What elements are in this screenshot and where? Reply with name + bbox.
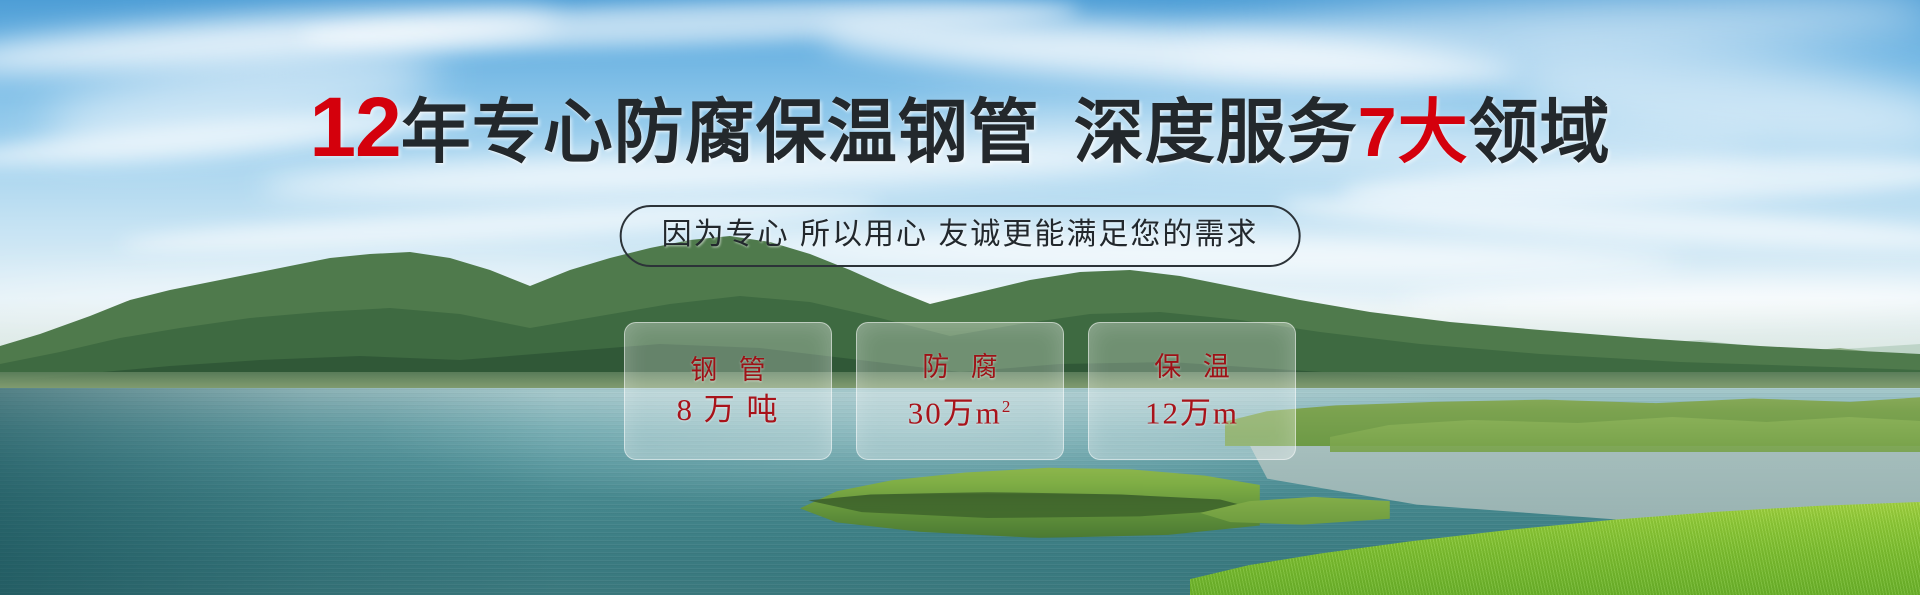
banner-content: 12年专心防腐保温钢管深度服务7大领域 因为专心 所以用心 友诚更能满足您的需求… — [0, 0, 1920, 595]
stat-value-superscript: 2 — [1002, 397, 1013, 416]
headline-part-three: 领域 — [1469, 93, 1611, 171]
stat-card-insulation[interactable]: 保 温 12万m — [1088, 322, 1296, 460]
subtitle-pill: 因为专心 所以用心 友诚更能满足您的需求 — [620, 205, 1301, 267]
subtitle-container: 因为专心 所以用心 友诚更能满足您的需求 — [620, 205, 1301, 267]
stat-card-anticorrosion[interactable]: 防 腐 30万m2 — [856, 322, 1064, 460]
headline-highlight: 7大 — [1358, 93, 1469, 171]
stat-card-title: 保 温 — [1147, 351, 1237, 383]
stat-card-title: 钢 管 — [683, 354, 773, 386]
stat-card-value: 12万m — [1145, 389, 1239, 431]
stat-card-steel-pipe[interactable]: 钢 管 8 万 吨 — [624, 322, 832, 460]
stat-card-value: 8 万 吨 — [677, 392, 780, 428]
headline: 12年专心防腐保温钢管深度服务7大领域 — [0, 88, 1920, 171]
promo-banner: 12年专心防腐保温钢管深度服务7大领域 因为专心 所以用心 友诚更能满足您的需求… — [0, 0, 1920, 595]
stat-value-text: 30万m — [908, 395, 1002, 430]
headline-years-number: 12 — [309, 80, 400, 174]
stat-card-title: 防 腐 — [915, 351, 1005, 383]
stats-card-group: 钢 管 8 万 吨 防 腐 30万m2 保 温 12万m — [624, 322, 1296, 460]
stat-value-text: 12万m — [1145, 395, 1239, 430]
stat-value-text: 8 万 吨 — [677, 392, 780, 427]
stat-card-value: 30万m2 — [908, 389, 1013, 431]
headline-part-two: 深度服务 — [1074, 93, 1358, 171]
headline-part-one: 年专心防腐保温钢管 — [401, 93, 1040, 171]
